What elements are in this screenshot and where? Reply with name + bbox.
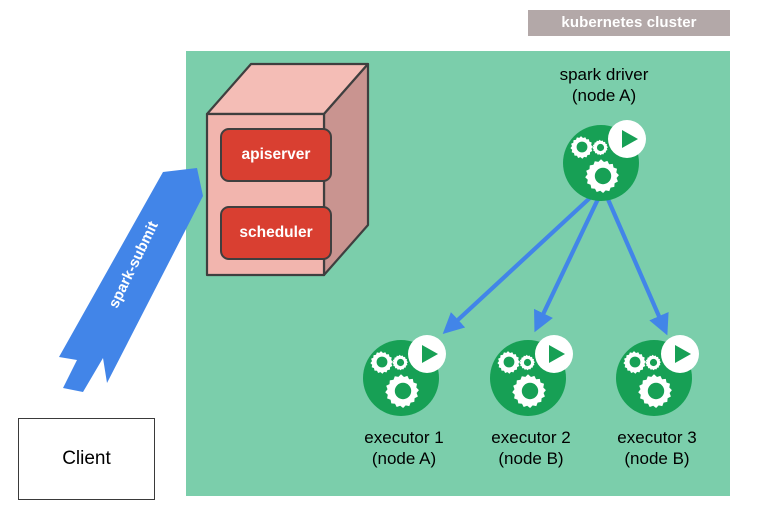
- executor-3-node: (node B): [587, 448, 727, 469]
- spark-driver-name: spark driver: [514, 64, 694, 85]
- apiserver-component: apiserver: [220, 128, 332, 182]
- client-box: Client: [18, 418, 155, 500]
- executor-1-node-icon: [360, 331, 448, 419]
- executor-2-caption: executor 2 (node B): [461, 427, 601, 469]
- executor-1-name: executor 1: [334, 427, 474, 448]
- scheduler-component: scheduler: [220, 206, 332, 260]
- spark-driver-node: (node A): [514, 85, 694, 106]
- spark-driver-node-icon: [560, 116, 648, 204]
- executor-3-node-icon: [613, 331, 701, 419]
- executor-3-caption: executor 3 (node B): [587, 427, 727, 469]
- spark-driver-caption: spark driver (node A): [514, 64, 694, 106]
- executor-1-node: (node A): [334, 448, 474, 469]
- executor-1-caption: executor 1 (node A): [334, 427, 474, 469]
- executor-2-node-icon: [487, 331, 575, 419]
- executor-2-name: executor 2: [461, 427, 601, 448]
- kubernetes-cluster-badge: kubernetes cluster: [528, 10, 730, 36]
- executor-3-name: executor 3: [587, 427, 727, 448]
- executor-2-node: (node B): [461, 448, 601, 469]
